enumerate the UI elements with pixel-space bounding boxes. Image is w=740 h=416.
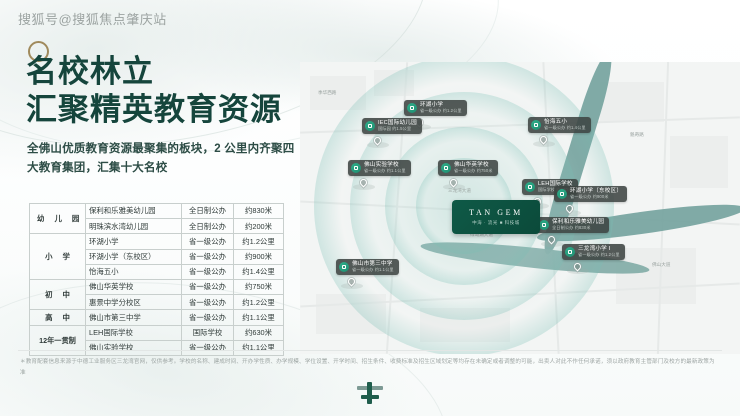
school-icon: [351, 163, 361, 173]
table-cell-school-type: 省一级公办: [182, 295, 234, 310]
table-cell-school-type: 国际学校: [182, 325, 234, 340]
school-icon: [557, 189, 567, 199]
page-title-line1: 名校林立: [26, 54, 154, 89]
school-icon: [365, 121, 375, 131]
map-poi-meta: 国际园 约1.5公里: [378, 127, 417, 131]
school-icon: [407, 103, 417, 113]
table-cell-distance: 约630米: [234, 325, 284, 340]
map-street-label: 季华西路: [318, 90, 336, 96]
table-cell-distance: 约830米: [234, 204, 284, 219]
map-block: [600, 82, 664, 122]
site-watermark: 搜狐号@搜狐焦点肇庆站: [18, 9, 167, 28]
map-street-label: 魁奇路: [630, 132, 644, 138]
map-poi-meta: 省一级公办 约900米: [570, 195, 622, 199]
table-row: 小 学环湖小学省一级公办约1.2公里: [30, 234, 284, 249]
table-row: 幼 儿 园保利和乐雅美幼儿园全日制公办约830米: [30, 204, 284, 219]
school-icon: [339, 262, 349, 272]
map-poi-chip[interactable]: 佛山实验学校省一级公办 约1.1公里: [348, 160, 411, 176]
school-icon: [539, 220, 549, 230]
table-cell-school-type: 全日制公办: [182, 219, 234, 234]
map-poi-marker[interactable]: 佛山实验学校省一级公办 约1.1公里: [348, 160, 411, 190]
map-poi-chip[interactable]: IEC国际幼儿园国际园 约1.5公里: [362, 118, 422, 134]
map-poi-meta: 省一级公办 约1.1公里: [352, 268, 394, 272]
table-cell-school-type: 省一级公办: [182, 279, 234, 294]
table-cell-distance: 约1.2公里: [234, 295, 284, 310]
map-block: [670, 136, 728, 188]
table-cell-school-name: 环湖小学: [86, 234, 182, 249]
map-street-label: 佛山大道: [652, 262, 670, 268]
map-block: [616, 248, 696, 304]
map-poi-chip[interactable]: 环湖小学（东校区）省一级公办 约900米: [554, 186, 627, 202]
table-cell-school-name: 怡海五小: [86, 264, 182, 279]
table-cell-school-type: 全日制公办: [182, 204, 234, 219]
map-poi-marker[interactable]: 保利和乐雅美幼儿园全日制公办 约830米: [536, 217, 609, 247]
footer-divider: [18, 350, 722, 351]
page-title-line2: 汇聚精英教育资源: [26, 91, 282, 129]
map-poi-meta: 省一级公办 约750米: [454, 169, 493, 173]
map-poi-marker[interactable]: IEC国际幼儿园国际园 约1.5公里: [362, 118, 422, 148]
project-name-text: TAN GEM: [469, 208, 523, 217]
map-poi-meta: 省一级公办 约1.2公里: [420, 109, 462, 113]
table-cell-category: 小 学: [30, 234, 86, 280]
table-cell-school-type: 省一级公办: [182, 340, 234, 355]
page-subtitle: 全佛山优质教育资源最聚集的板块，2 公里内齐聚四大教育集团，汇集十大名校: [27, 140, 295, 178]
table-row: 高 中佛山市第三中学省一级公办约1.1公里: [30, 310, 284, 325]
table-cell-distance: 约1.2公里: [234, 234, 284, 249]
table-cell-school-type: 省一级公办: [182, 310, 234, 325]
table-cell-category: 幼 儿 园: [30, 204, 86, 234]
map-poi-meta: 省一级公办 约1.4公里: [544, 126, 586, 130]
map-poi-marker[interactable]: 三龙湾小学 I省一级公办 约1.2公里: [562, 244, 625, 274]
map-poi-chip[interactable]: 保利和乐雅美幼儿园全日制公办 约830米: [536, 217, 609, 233]
table-cell-distance: 约900米: [234, 249, 284, 264]
table-cell-category: 初 中: [30, 279, 86, 309]
schools-table-body: 幼 儿 园保利和乐雅美幼儿园全日制公办约830米明珠滨水湾幼儿园全日制公办约20…: [30, 204, 284, 356]
page-title: 名校林立 汇聚精英教育资源: [26, 53, 282, 129]
table-cell-school-name: 保利和乐雅美幼儿园: [86, 204, 182, 219]
map-poi-marker[interactable]: 怡海五小省一级公办 约1.4公里: [528, 117, 591, 147]
map-poi-marker[interactable]: 环湖小学（东校区）省一级公办 约900米: [554, 186, 627, 216]
table-cell-school-name: 佛山市第三中学: [86, 310, 182, 325]
project-name: TAN GEM: [469, 208, 523, 217]
table-cell-school-type: 省一级公办: [182, 249, 234, 264]
table-cell-distance: 约750米: [234, 279, 284, 294]
map-poi-chip[interactable]: 佛山市第三中学省一级公办 约1.1公里: [336, 259, 399, 275]
brand-logo-icon: [357, 382, 383, 408]
map-poi-meta: 省一级公办 约1.1公里: [364, 169, 406, 173]
table-cell-school-name: 明珠滨水湾幼儿园: [86, 219, 182, 234]
school-icon: [441, 163, 451, 173]
table-cell-school-type: 省一级公办: [182, 234, 234, 249]
project-subtitle: 中海 · 流光 ■ 科技城: [472, 220, 520, 226]
map-poi-chip[interactable]: 环湖小学省一级公办 约1.2公里: [404, 100, 467, 116]
table-cell-school-name: 佛山华英学校: [86, 279, 182, 294]
table-cell-distance: 约1.1公里: [234, 340, 284, 355]
footer-disclaimer: ＊教育配套信息来源于中德工业服务区三龙湾官网，仅供参考。学校的名称、建成时间、开…: [20, 357, 720, 379]
schools-table: 幼 儿 园保利和乐雅美幼儿园全日制公办约830米明珠滨水湾幼儿园全日制公办约20…: [29, 203, 284, 356]
table-cell-school-name: 佛山实验学校: [86, 340, 182, 355]
education-map[interactable]: 三龙湾大道季华西路绿岛湖大道魁奇路佛山大道 环湖小学省一级公办 约1.2公里IE…: [300, 62, 740, 354]
table-cell-school-name: LEH国际学校: [86, 325, 182, 340]
table-cell-school-name: 环湖小学（东校区）: [86, 249, 182, 264]
table-row: 12年一贯制LEH国际学校国际学校约630米: [30, 325, 284, 340]
map-poi-chip[interactable]: 佛山华英学校省一级公办 约750米: [438, 160, 498, 176]
slide-canvas: 搜狐号@搜狐焦点肇庆站 名校林立 汇聚精英教育资源 全佛山优质教育资源最聚集的板…: [0, 0, 740, 416]
table-cell-category: 高 中: [30, 310, 86, 325]
map-poi-meta: 省一级公办 约1.2公里: [578, 253, 620, 257]
school-icon: [565, 247, 575, 257]
schools-table-wrapper: 幼 儿 园保利和乐雅美幼儿园全日制公办约830米明珠滨水湾幼儿园全日制公办约20…: [29, 203, 283, 356]
table-row: 初 中佛山华英学校省一级公办约750米: [30, 279, 284, 294]
table-cell-distance: 约1.1公里: [234, 310, 284, 325]
map-poi-chip[interactable]: 三龙湾小学 I省一级公办 约1.2公里: [562, 244, 625, 260]
map-poi-chip[interactable]: 怡海五小省一级公办 约1.4公里: [528, 117, 591, 133]
table-cell-school-type: 省一级公办: [182, 264, 234, 279]
table-cell-distance: 约1.4公里: [234, 264, 284, 279]
project-badge[interactable]: TAN GEM 中海 · 流光 ■ 科技城: [452, 200, 540, 234]
map-poi-marker[interactable]: 佛山华英学校省一级公办 约750米: [438, 160, 498, 190]
map-poi-marker[interactable]: 佛山市第三中学省一级公办 约1.1公里: [336, 259, 399, 289]
school-icon: [531, 120, 541, 130]
map-poi-meta: 全日制公办 约830米: [552, 226, 604, 230]
table-cell-distance: 约200米: [234, 219, 284, 234]
school-icon: [525, 182, 535, 192]
table-cell-school-name: 惠景中学分校区: [86, 295, 182, 310]
